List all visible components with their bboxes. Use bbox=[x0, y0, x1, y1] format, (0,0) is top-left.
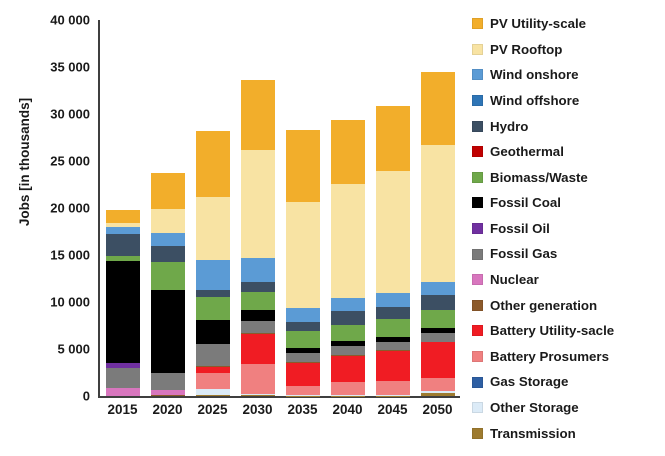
legend-swatch-icon bbox=[472, 44, 483, 55]
bar-segment[interactable] bbox=[196, 131, 230, 197]
legend-label: Battery Prosumers bbox=[490, 350, 609, 363]
y-axis-tick: 5 000 bbox=[22, 342, 90, 357]
bar-segment[interactable] bbox=[151, 209, 185, 233]
y-axis-tick-labels: 40 00035 00030 00025 00020 00015 00010 0… bbox=[22, 0, 90, 456]
legend-swatch-icon bbox=[472, 428, 483, 439]
x-axis-tick-labels: 20152020202520302035204020452050 bbox=[100, 400, 460, 426]
bar-segment[interactable] bbox=[241, 80, 275, 150]
y-axis-tick: 25 000 bbox=[22, 154, 90, 169]
legend-item-pv-rooftop[interactable]: PV Rooftop bbox=[472, 37, 664, 63]
bar-segment[interactable] bbox=[376, 171, 410, 293]
legend-item-fossil-coal[interactable]: Fossil Coal bbox=[472, 190, 664, 216]
legend-item-nuclear[interactable]: Nuclear bbox=[472, 267, 664, 293]
bar-segment[interactable] bbox=[196, 344, 230, 366]
legend-swatch-icon bbox=[472, 300, 483, 311]
legend-item-biomass-waste[interactable]: Biomass/Waste bbox=[472, 165, 664, 191]
legend-label: PV Utility-scale bbox=[490, 17, 586, 30]
bar-segment[interactable] bbox=[196, 395, 230, 396]
bar-segment[interactable] bbox=[376, 351, 410, 380]
bar-segment[interactable] bbox=[286, 386, 320, 395]
legend-swatch-icon bbox=[472, 351, 483, 362]
legend-swatch-icon bbox=[472, 18, 483, 29]
bar-stack bbox=[286, 130, 320, 396]
bar-segment[interactable] bbox=[151, 233, 185, 245]
bar-segment[interactable] bbox=[421, 282, 455, 295]
y-axis-tick: 0 bbox=[22, 389, 90, 404]
legend-swatch-icon bbox=[472, 95, 483, 106]
bar-segment[interactable] bbox=[376, 293, 410, 307]
bar-segment[interactable] bbox=[421, 342, 455, 377]
bar-segment[interactable] bbox=[421, 72, 455, 144]
y-axis-tick: 20 000 bbox=[22, 201, 90, 216]
legend-swatch-icon bbox=[472, 274, 483, 285]
legend-label: Battery Utility-sacle bbox=[490, 324, 614, 337]
legend-item-hydro[interactable]: Hydro bbox=[472, 113, 664, 139]
legend-item-gas-storage[interactable]: Gas Storage bbox=[472, 369, 664, 395]
legend-label: Hydro bbox=[490, 120, 528, 133]
legend-label: Biomass/Waste bbox=[490, 171, 588, 184]
legend-item-fossil-gas[interactable]: Fossil Gas bbox=[472, 241, 664, 267]
bar-segment[interactable] bbox=[421, 295, 455, 309]
bar-segment[interactable] bbox=[241, 258, 275, 282]
bar-segment[interactable] bbox=[331, 120, 365, 183]
legend-swatch-icon bbox=[472, 172, 483, 183]
bar-segment[interactable] bbox=[241, 395, 275, 396]
legend-swatch-icon bbox=[472, 121, 483, 132]
bar-segment[interactable] bbox=[376, 381, 410, 395]
bar-segment[interactable] bbox=[331, 356, 365, 382]
bar-segment[interactable] bbox=[376, 106, 410, 172]
bar-segment[interactable] bbox=[106, 368, 140, 388]
bar-segment[interactable] bbox=[421, 310, 455, 329]
legend-item-fossil-oil[interactable]: Fossil Oil bbox=[472, 216, 664, 242]
bar-stack bbox=[151, 173, 185, 396]
bar-segment[interactable] bbox=[106, 261, 140, 363]
bar-segment[interactable] bbox=[241, 364, 275, 394]
bar-segment[interactable] bbox=[286, 130, 320, 202]
bar-segment[interactable] bbox=[196, 320, 230, 344]
bar-segment[interactable] bbox=[286, 322, 320, 331]
bar-segment[interactable] bbox=[376, 342, 410, 351]
bar-segment[interactable] bbox=[106, 210, 140, 223]
stacked-bar-chart: Jobs [in thousands] 40 00035 00030 00025… bbox=[0, 0, 665, 456]
bar-segment[interactable] bbox=[196, 197, 230, 260]
bar-segment[interactable] bbox=[286, 202, 320, 308]
bar-segment[interactable] bbox=[151, 373, 185, 390]
bar-segment[interactable] bbox=[151, 246, 185, 262]
bar-segment[interactable] bbox=[151, 290, 185, 373]
legend-label: Fossil Coal bbox=[490, 196, 561, 209]
bar-segment[interactable] bbox=[331, 311, 365, 324]
legend-item-wind-onshore[interactable]: Wind onshore bbox=[472, 62, 664, 88]
legend-item-transmission[interactable]: Transmission bbox=[472, 421, 664, 447]
bar-segment[interactable] bbox=[196, 260, 230, 290]
bar-segment[interactable] bbox=[331, 346, 365, 355]
bar-segment[interactable] bbox=[241, 310, 275, 321]
legend-label: Other generation bbox=[490, 299, 597, 312]
bar-segment[interactable] bbox=[331, 325, 365, 341]
bar-segment[interactable] bbox=[241, 334, 275, 364]
bar-segment[interactable] bbox=[241, 282, 275, 292]
bar-segment[interactable] bbox=[106, 227, 140, 234]
legend-swatch-icon bbox=[472, 146, 483, 157]
legend-item-other-generation[interactable]: Other generation bbox=[472, 293, 664, 319]
bar-stack bbox=[196, 131, 230, 396]
legend-label: Fossil Oil bbox=[490, 222, 550, 235]
bar-segment[interactable] bbox=[331, 184, 365, 299]
bar-segment[interactable] bbox=[421, 393, 455, 396]
bar-segment[interactable] bbox=[286, 353, 320, 362]
y-axis-tick: 15 000 bbox=[22, 248, 90, 263]
bar-segment[interactable] bbox=[241, 150, 275, 258]
legend-label: Geothermal bbox=[490, 145, 564, 158]
bar-segment[interactable] bbox=[421, 333, 455, 342]
bar-segment[interactable] bbox=[286, 363, 320, 386]
bar-segment[interactable] bbox=[196, 297, 230, 321]
legend-swatch-icon bbox=[472, 402, 483, 413]
legend-item-battery-prosumers[interactable]: Battery Prosumers bbox=[472, 344, 664, 370]
legend-label: Nuclear bbox=[490, 273, 539, 286]
bar-segment[interactable] bbox=[151, 173, 185, 209]
bar-stack bbox=[421, 72, 455, 396]
bar-segment[interactable] bbox=[196, 290, 230, 297]
x-axis-tick-2050: 2050 bbox=[412, 402, 464, 417]
bar-segment[interactable] bbox=[196, 373, 230, 390]
bar-segment[interactable] bbox=[106, 388, 140, 396]
legend-swatch-icon bbox=[472, 223, 483, 234]
legend-item-geothermal[interactable]: Geothermal bbox=[472, 139, 664, 165]
legend-swatch-icon bbox=[472, 197, 483, 208]
legend-label: Transmission bbox=[490, 427, 576, 440]
bar-segment[interactable] bbox=[286, 331, 320, 348]
bar-segment[interactable] bbox=[421, 145, 455, 283]
bar-stack bbox=[106, 210, 140, 396]
bar-segment[interactable] bbox=[151, 262, 185, 290]
bar-segment[interactable] bbox=[241, 321, 275, 333]
legend-label: Gas Storage bbox=[490, 375, 568, 388]
legend-item-battery-utility-sacle[interactable]: Battery Utility-sacle bbox=[472, 318, 664, 344]
bar-segment[interactable] bbox=[331, 298, 365, 311]
bar-stack bbox=[241, 80, 275, 396]
y-axis-tick: 40 000 bbox=[22, 13, 90, 28]
y-axis-tick: 35 000 bbox=[22, 60, 90, 75]
legend-label: PV Rooftop bbox=[490, 43, 562, 56]
bar-segment[interactable] bbox=[286, 308, 320, 322]
bar-segment[interactable] bbox=[331, 382, 365, 395]
legend-swatch-icon bbox=[472, 249, 483, 260]
bar-segment[interactable] bbox=[376, 307, 410, 319]
legend-swatch-icon bbox=[472, 325, 483, 336]
bar-stack bbox=[376, 106, 410, 396]
legend-item-wind-offshore[interactable]: Wind offshore bbox=[472, 88, 664, 114]
y-axis-tick: 30 000 bbox=[22, 107, 90, 122]
y-axis-tick: 10 000 bbox=[22, 295, 90, 310]
legend-label: Fossil Gas bbox=[490, 247, 557, 260]
legend-label: Other Storage bbox=[490, 401, 579, 414]
legend-item-other-storage[interactable]: Other Storage bbox=[472, 395, 664, 421]
chart-legend: PV Utility-scalePV RooftopWind onshoreWi… bbox=[472, 11, 664, 451]
bar-segment[interactable] bbox=[151, 395, 185, 396]
bar-segment[interactable] bbox=[376, 319, 410, 337]
bar-stack bbox=[331, 120, 365, 396]
bar-segment[interactable] bbox=[421, 378, 455, 391]
bar-segment[interactable] bbox=[106, 234, 140, 256]
plot-area bbox=[100, 20, 460, 396]
x-axis-line bbox=[98, 396, 460, 398]
legend-item-pv-utility-scale[interactable]: PV Utility-scale bbox=[472, 11, 664, 37]
legend-swatch-icon bbox=[472, 377, 483, 388]
legend-label: Wind offshore bbox=[490, 94, 579, 107]
legend-swatch-icon bbox=[472, 69, 483, 80]
legend-label: Wind onshore bbox=[490, 68, 579, 81]
bar-segment[interactable] bbox=[241, 292, 275, 310]
